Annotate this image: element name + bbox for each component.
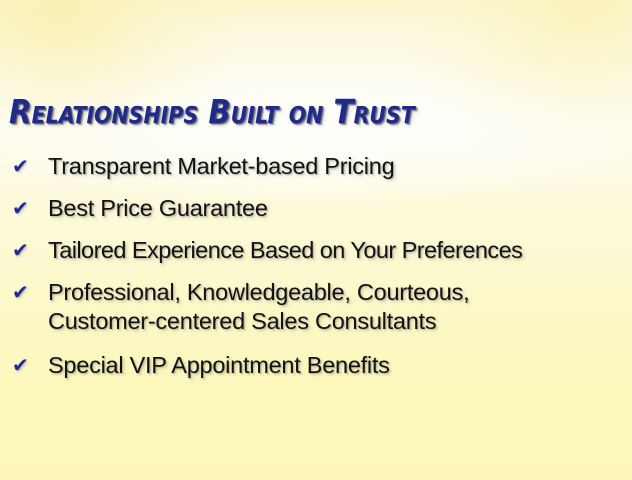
list-item-label: Special VIP Appointment Benefits — [48, 351, 628, 380]
list-item-label: Tailored Experience Based on Your Prefer… — [48, 236, 628, 265]
benefits-list: ✔ Transparent Market-based Pricing ✔ Bes… — [12, 152, 628, 380]
list-item: ✔ Tailored Experience Based on Your Pref… — [12, 236, 628, 265]
list-item-label: Professional, Knowledgeable, Courteous, … — [48, 278, 628, 336]
checkmark-icon: ✔ — [12, 236, 48, 265]
presentation-slide: Relationships Built on Trust ✔ Transpare… — [0, 0, 632, 480]
checkmark-icon: ✔ — [12, 351, 48, 380]
checkmark-icon: ✔ — [12, 194, 48, 223]
list-item: ✔ Professional, Knowledgeable, Courteous… — [12, 278, 628, 336]
list-item: ✔ Special VIP Appointment Benefits — [12, 351, 628, 380]
list-item: ✔ Best Price Guarantee — [12, 194, 628, 223]
checkmark-icon: ✔ — [12, 278, 48, 307]
slide-title: Relationships Built on Trust — [9, 92, 622, 132]
checkmark-icon: ✔ — [12, 152, 48, 181]
list-item-label: Best Price Guarantee — [48, 194, 628, 223]
list-item: ✔ Transparent Market-based Pricing — [12, 152, 628, 181]
list-item-label: Transparent Market-based Pricing — [48, 152, 628, 181]
